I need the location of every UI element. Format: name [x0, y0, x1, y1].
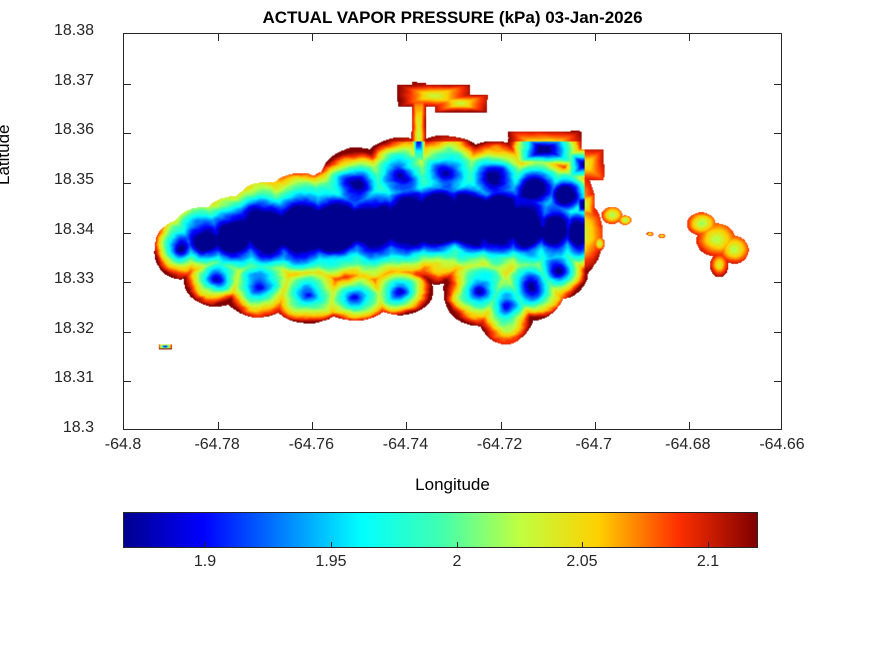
y-tick-label: 18.3 — [34, 419, 94, 437]
y-tick-mark — [124, 381, 131, 382]
x-tick-label: -64.74 — [365, 436, 445, 454]
y-tick-label: 18.33 — [34, 270, 94, 288]
y-tick-mark — [124, 133, 131, 134]
x-tick-label: -64.7 — [554, 436, 634, 454]
y-tick-mark — [124, 282, 131, 283]
x-tick-mark — [406, 34, 407, 41]
page-title: ACTUAL VAPOR PRESSURE (kPa) 03-Jan-2026 — [123, 8, 782, 28]
colorbar[interactable] — [123, 512, 758, 548]
y-tick-mark — [774, 233, 781, 234]
x-axis-title: Longitude — [123, 475, 782, 495]
y-tick-mark — [124, 332, 131, 333]
colorbar-tick-label: 2.1 — [668, 553, 748, 571]
colorbar-tick-label: 1.9 — [165, 553, 245, 571]
y-tick-mark — [774, 133, 781, 134]
x-tick-mark — [218, 422, 219, 429]
colorbar-tick-label: 1.95 — [291, 553, 371, 571]
y-tick-mark — [774, 183, 781, 184]
y-tick-label: 18.31 — [34, 369, 94, 387]
colorbar-tick-label: 2 — [417, 553, 497, 571]
y-axis-title: Latitude — [0, 125, 14, 186]
x-tick-label: -64.68 — [648, 436, 728, 454]
y-tick-mark — [124, 183, 131, 184]
vapor-pressure-heatmap[interactable] — [124, 34, 781, 429]
colorbar-tick-mark — [205, 542, 206, 548]
x-tick-mark — [501, 34, 502, 41]
matlab-figure: ACTUAL VAPOR PRESSURE (kPa) 03-Jan-2026 … — [0, 0, 875, 656]
y-tick-label: 18.35 — [34, 171, 94, 189]
x-tick-mark — [218, 34, 219, 41]
x-tick-label: -64.76 — [271, 436, 351, 454]
x-tick-mark — [689, 422, 690, 429]
x-tick-label: -64.78 — [177, 436, 257, 454]
y-tick-label: 18.32 — [34, 320, 94, 338]
colorbar-gradient — [123, 512, 758, 548]
x-tick-mark — [595, 422, 596, 429]
plot-axes[interactable] — [123, 33, 782, 430]
x-tick-mark — [689, 34, 690, 41]
y-tick-mark — [774, 282, 781, 283]
x-tick-mark — [312, 34, 313, 41]
colorbar-tick-mark — [582, 542, 583, 548]
y-tick-label: 18.38 — [34, 22, 94, 40]
y-tick-label: 18.34 — [34, 221, 94, 239]
y-tick-label: 18.36 — [34, 121, 94, 139]
x-tick-mark — [595, 34, 596, 41]
y-tick-mark — [774, 84, 781, 85]
x-tick-mark — [406, 422, 407, 429]
y-tick-mark — [124, 84, 131, 85]
x-tick-label: -64.8 — [83, 436, 163, 454]
colorbar-tick-mark — [457, 542, 458, 548]
colorbar-tick-mark — [331, 542, 332, 548]
y-tick-label: 18.37 — [34, 72, 94, 90]
y-tick-mark — [774, 381, 781, 382]
colorbar-tick-label: 2.05 — [542, 553, 622, 571]
y-tick-mark — [124, 233, 131, 234]
colorbar-tick-mark — [708, 542, 709, 548]
x-tick-mark — [312, 422, 313, 429]
x-tick-mark — [501, 422, 502, 429]
y-tick-mark — [774, 332, 781, 333]
x-tick-label: -64.72 — [460, 436, 540, 454]
x-tick-label: -64.66 — [742, 436, 822, 454]
